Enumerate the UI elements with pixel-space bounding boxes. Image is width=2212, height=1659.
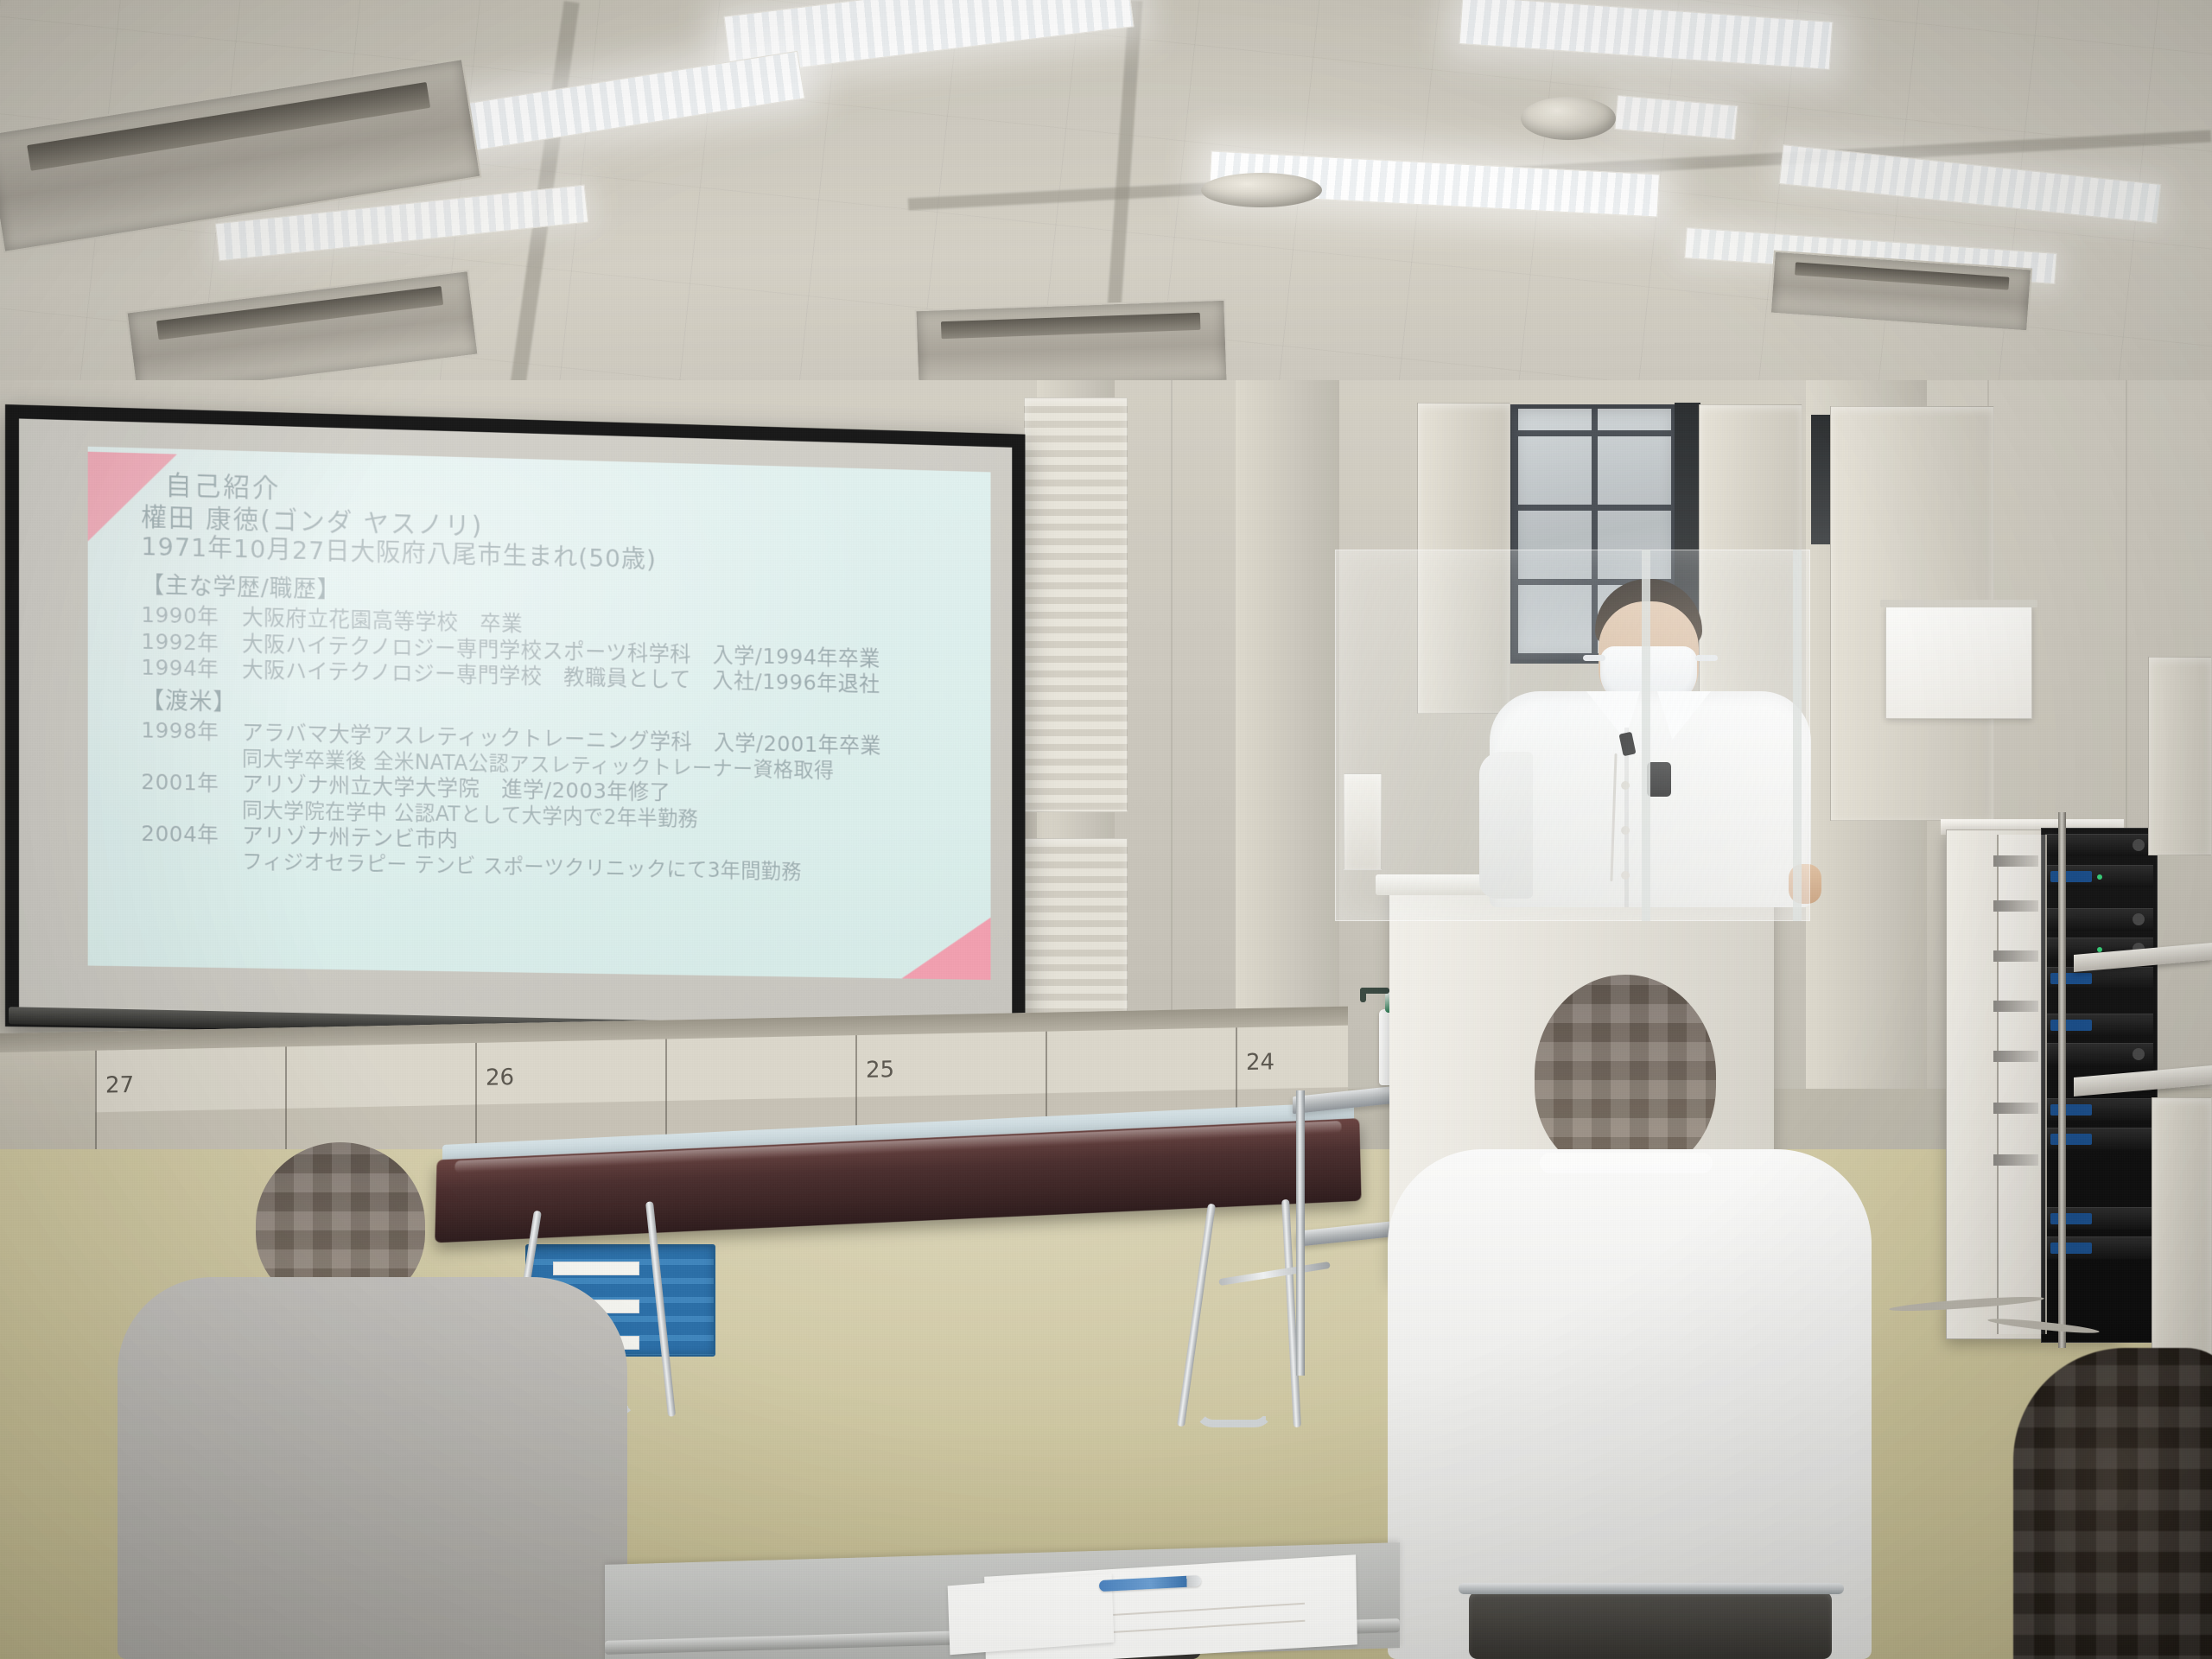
usa-text: アリゾナ州テンビ市内 xyxy=(242,823,458,853)
ceiling-speaker xyxy=(1201,173,1322,207)
education-year: 1992年 xyxy=(141,631,242,655)
attendee-front-right xyxy=(2013,1348,2212,1659)
usa-year: 1998年 xyxy=(141,720,242,744)
ceiling xyxy=(0,0,2212,406)
usa-year: 2004年 xyxy=(141,823,242,847)
projection-screen-surface: 自己紹介 權田 康徳(ゴンダ ヤスノリ) 1971年10月27日大阪府八尾市生ま… xyxy=(19,418,1012,1029)
rack-display xyxy=(2050,973,2092,984)
presenter xyxy=(1469,570,1832,916)
attendee-collar xyxy=(1540,1153,1713,1173)
chair-backrest[interactable] xyxy=(1469,1592,1832,1659)
rack-knob[interactable] xyxy=(2133,1048,2145,1060)
projection-screen: 自己紹介 權田 康徳(ゴンダ ヤスノリ) 1971年10月27日大阪府八尾市生ま… xyxy=(5,404,1025,1041)
wall-seam xyxy=(1171,380,1173,1089)
education-year: 1994年 xyxy=(141,657,242,681)
presenter-arm xyxy=(1479,752,1533,899)
cabinet-number-label: 24 xyxy=(1246,1049,1274,1076)
rack-display xyxy=(2050,1243,2092,1254)
whiteboard-rail xyxy=(1880,600,2037,607)
cabinet-number-label: 26 xyxy=(486,1065,514,1091)
rack-door-strip xyxy=(1993,1154,2038,1166)
wall-column xyxy=(1236,380,1339,1089)
rack-led xyxy=(2097,874,2102,880)
ceiling-speaker xyxy=(1521,97,1616,140)
door-jamb xyxy=(1811,415,1830,544)
crate-label xyxy=(553,1262,639,1275)
shield-post xyxy=(1642,550,1650,921)
presenter-shirt xyxy=(1490,691,1811,907)
rack-door-strip xyxy=(1993,900,2038,912)
shirt-button xyxy=(1621,826,1630,835)
rack-knob[interactable] xyxy=(2133,839,2145,851)
slide-content: 自己紹介 權田 康徳(ゴンダ ヤスノリ) 1971年10月27日大阪府八尾市生ま… xyxy=(141,460,982,976)
rack-door-strip xyxy=(1993,950,2038,962)
cart-leg xyxy=(1296,1090,1305,1376)
rack-door-strip xyxy=(1993,855,2038,867)
shield-post xyxy=(1793,550,1802,921)
wall-whiteboard[interactable] xyxy=(1885,607,2032,719)
education-year: 1990年 xyxy=(141,604,242,628)
rack-display xyxy=(2050,1213,2092,1224)
presentation-slide: 自己紹介 權田 康徳(ゴンダ ヤスノリ) 1971年10月27日大阪府八尾市生ま… xyxy=(88,447,991,980)
rack-knob[interactable] xyxy=(2133,913,2145,925)
right-wall-cabinet xyxy=(2152,1097,2212,1357)
mask-ear-strap xyxy=(1695,655,1718,661)
handout-paper[interactable] xyxy=(948,1573,1115,1655)
attendee-torso xyxy=(118,1277,627,1659)
sanitizer-nozzle-stem xyxy=(1360,988,1366,1002)
rack-display xyxy=(2050,1020,2092,1031)
wall-seam xyxy=(2126,380,2127,829)
rack-led xyxy=(2097,947,2102,952)
cabinet-number-label: 27 xyxy=(105,1072,134,1099)
chair-frame-rail xyxy=(1459,1583,1844,1594)
rack-door-strip xyxy=(1993,1103,2038,1114)
right-wall-equipment xyxy=(2148,657,2212,855)
rack-door-strip xyxy=(1993,1001,2038,1012)
attendee-head-blurred xyxy=(1535,975,1716,1175)
rack-vertical-rail xyxy=(2058,812,2066,1348)
vent-slot xyxy=(941,313,1200,340)
pocket-transmitter xyxy=(1647,762,1671,797)
usa-year: 2001年 xyxy=(141,772,242,796)
rack-display xyxy=(2050,871,2092,882)
table-leg-foot xyxy=(1194,1408,1274,1427)
shirt-button xyxy=(1621,781,1630,790)
rack-door-strip xyxy=(1993,1051,2038,1062)
vent-slot xyxy=(1795,262,2010,290)
rack-display xyxy=(2050,1134,2092,1145)
shirt-button xyxy=(1621,871,1630,880)
seminar-room-photo: 自己紹介 權田 康徳(ゴンダ ヤスノリ) 1971年10月27日大阪府八尾市生ま… xyxy=(0,0,2212,1659)
mask-ear-strap xyxy=(1583,655,1605,661)
rack-display xyxy=(2050,1104,2092,1116)
wall-control-box[interactable] xyxy=(1344,773,1382,870)
cabinet-number-label: 25 xyxy=(866,1057,894,1084)
window-blinds xyxy=(1024,397,1128,812)
ceiling-air-vent xyxy=(914,299,1228,393)
